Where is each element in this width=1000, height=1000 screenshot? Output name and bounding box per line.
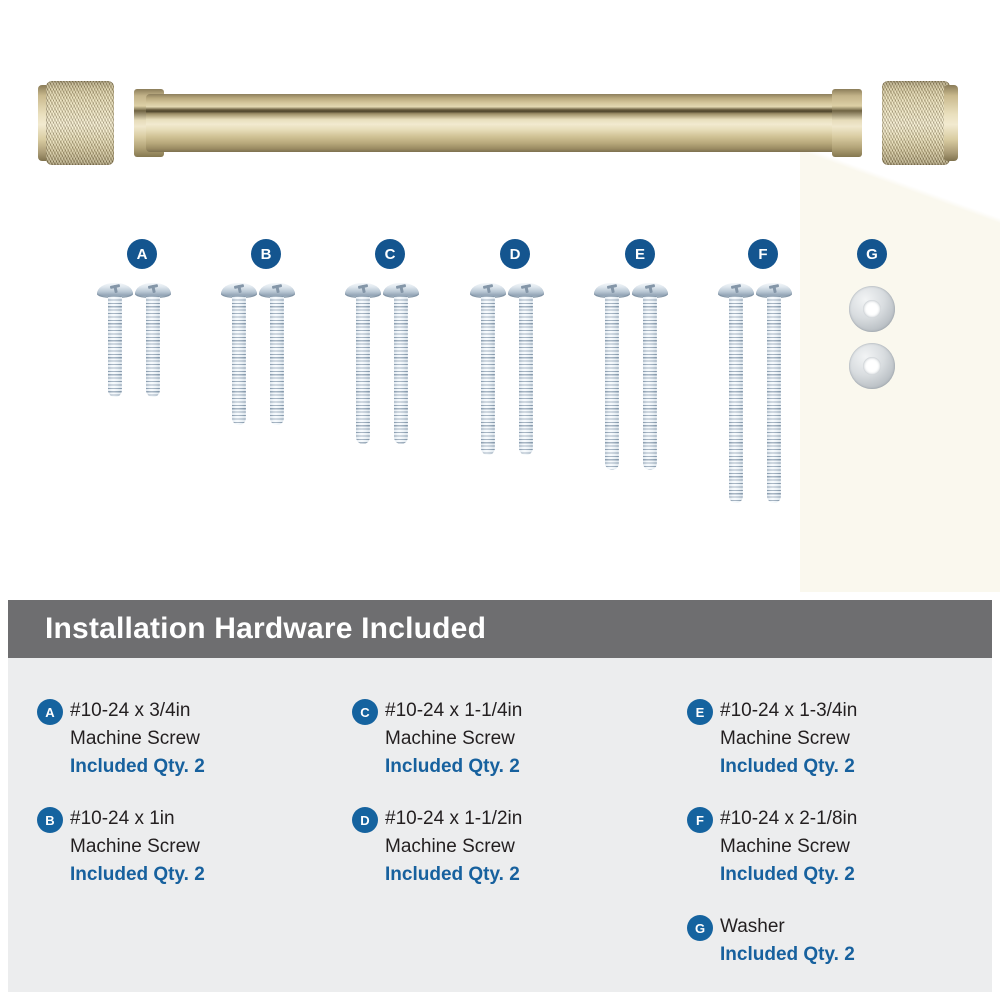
screw-a-1	[105, 283, 125, 397]
legend-quantity: Included Qty. 2	[720, 941, 987, 969]
legend-text-block: #10-24 x 3/4inMachine ScrewIncluded Qty.…	[70, 697, 337, 781]
legend-type-line: Machine Screw	[70, 833, 337, 861]
screw-threaded-shaft	[729, 296, 743, 503]
legend-type-line: Machine Screw	[70, 725, 337, 753]
bar-pull-handle-image	[38, 78, 958, 170]
screw-threaded-shaft	[394, 296, 408, 444]
hardware-legend-panel: A#10-24 x 3/4inMachine ScrewIncluded Qty…	[8, 658, 992, 992]
legend-type-line: Machine Screw	[720, 725, 987, 753]
screw-threaded-shaft	[270, 296, 284, 425]
legend-quantity: Included Qty. 2	[385, 753, 652, 781]
legend-spec-line: #10-24 x 1-1/2in	[385, 805, 652, 833]
legend-spec-line: #10-24 x 1in	[70, 805, 337, 833]
product-hardware-infographic: ABCDEFG Installation Hardware Included A…	[0, 0, 1000, 1000]
legend-badge-e: E	[687, 699, 713, 725]
legend-item-a: A#10-24 x 3/4inMachine ScrewIncluded Qty…	[37, 697, 337, 781]
photo-badge-a: A	[127, 239, 157, 269]
legend-item-b: B#10-24 x 1inMachine ScrewIncluded Qty. …	[37, 805, 337, 889]
legend-badge-a: A	[37, 699, 63, 725]
legend-quantity: Included Qty. 2	[720, 861, 987, 889]
legend-quantity: Included Qty. 2	[720, 753, 987, 781]
legend-badge-d: D	[352, 807, 378, 833]
screw-threaded-shaft	[767, 296, 781, 503]
legend-spec-line: #10-24 x 3/4in	[70, 697, 337, 725]
photo-badge-b: B	[251, 239, 281, 269]
legend-text-block: WasherIncluded Qty. 2	[720, 913, 987, 969]
screw-b-1	[229, 283, 249, 425]
screw-c-2	[391, 283, 411, 444]
legend-item-e: E#10-24 x 1-3/4inMachine ScrewIncluded Q…	[687, 697, 987, 781]
legend-spec-line: #10-24 x 1-1/4in	[385, 697, 652, 725]
legend-item-c: C#10-24 x 1-1/4inMachine ScrewIncluded Q…	[352, 697, 652, 781]
photo-badge-f: F	[748, 239, 778, 269]
photo-badge-e: E	[625, 239, 655, 269]
legend-item-f: F#10-24 x 2-1/8inMachine ScrewIncluded Q…	[687, 805, 987, 889]
screw-d-2	[516, 283, 536, 455]
legend-badge-c: C	[352, 699, 378, 725]
legend-quantity: Included Qty. 2	[70, 861, 337, 889]
legend-badge-g: G	[687, 915, 713, 941]
photo-badge-d: D	[500, 239, 530, 269]
washer-1	[849, 286, 895, 332]
legend-spec-line: #10-24 x 1-3/4in	[720, 697, 987, 725]
legend-badge-b: B	[37, 807, 63, 833]
screw-threaded-shaft	[481, 296, 495, 455]
photo-backdrop-shadow	[800, 120, 1000, 592]
legend-spec-line: #10-24 x 2-1/8in	[720, 805, 987, 833]
legend-item-g: GWasherIncluded Qty. 2	[687, 913, 987, 969]
pull-knurled-grip-right	[882, 81, 950, 165]
legend-spec-line: Washer	[720, 913, 987, 941]
screw-threaded-shaft	[108, 296, 122, 397]
photo-badge-c: C	[375, 239, 405, 269]
screw-a-2	[143, 283, 163, 397]
screw-threaded-shaft	[232, 296, 246, 425]
screw-d-1	[478, 283, 498, 455]
product-photo-area: ABCDEFG	[0, 0, 1000, 592]
legend-quantity: Included Qty. 2	[385, 861, 652, 889]
legend-text-block: #10-24 x 1-1/2inMachine ScrewIncluded Qt…	[385, 805, 652, 889]
legend-badge-f: F	[687, 807, 713, 833]
screw-threaded-shaft	[643, 296, 657, 470]
pull-end-cap-right	[944, 85, 958, 161]
legend-text-block: #10-24 x 1-1/4inMachine ScrewIncluded Qt…	[385, 697, 652, 781]
legend-item-d: D#10-24 x 1-1/2inMachine ScrewIncluded Q…	[352, 805, 652, 889]
screw-e-1	[602, 283, 622, 470]
legend-text-block: #10-24 x 1-3/4inMachine ScrewIncluded Qt…	[720, 697, 987, 781]
screw-threaded-shaft	[605, 296, 619, 470]
legend-type-line: Machine Screw	[720, 833, 987, 861]
screw-threaded-shaft	[146, 296, 160, 397]
legend-text-block: #10-24 x 1inMachine ScrewIncluded Qty. 2	[70, 805, 337, 889]
page-title: Installation Hardware Included	[8, 612, 486, 646]
pull-collar-right	[832, 89, 862, 157]
screw-c-1	[353, 283, 373, 444]
screw-threaded-shaft	[356, 296, 370, 444]
legend-type-line: Machine Screw	[385, 833, 652, 861]
screw-f-1	[726, 283, 746, 503]
screw-b-2	[267, 283, 287, 425]
photo-badge-g: G	[857, 239, 887, 269]
installation-hardware-header: Installation Hardware Included	[8, 600, 992, 658]
screw-threaded-shaft	[519, 296, 533, 455]
screw-e-2	[640, 283, 660, 470]
washer-2	[849, 343, 895, 389]
pull-knurled-grip-left	[46, 81, 114, 165]
screw-f-2	[764, 283, 784, 503]
legend-text-block: #10-24 x 2-1/8inMachine ScrewIncluded Qt…	[720, 805, 987, 889]
legend-type-line: Machine Screw	[385, 725, 652, 753]
legend-quantity: Included Qty. 2	[70, 753, 337, 781]
pull-shaft	[146, 94, 850, 152]
